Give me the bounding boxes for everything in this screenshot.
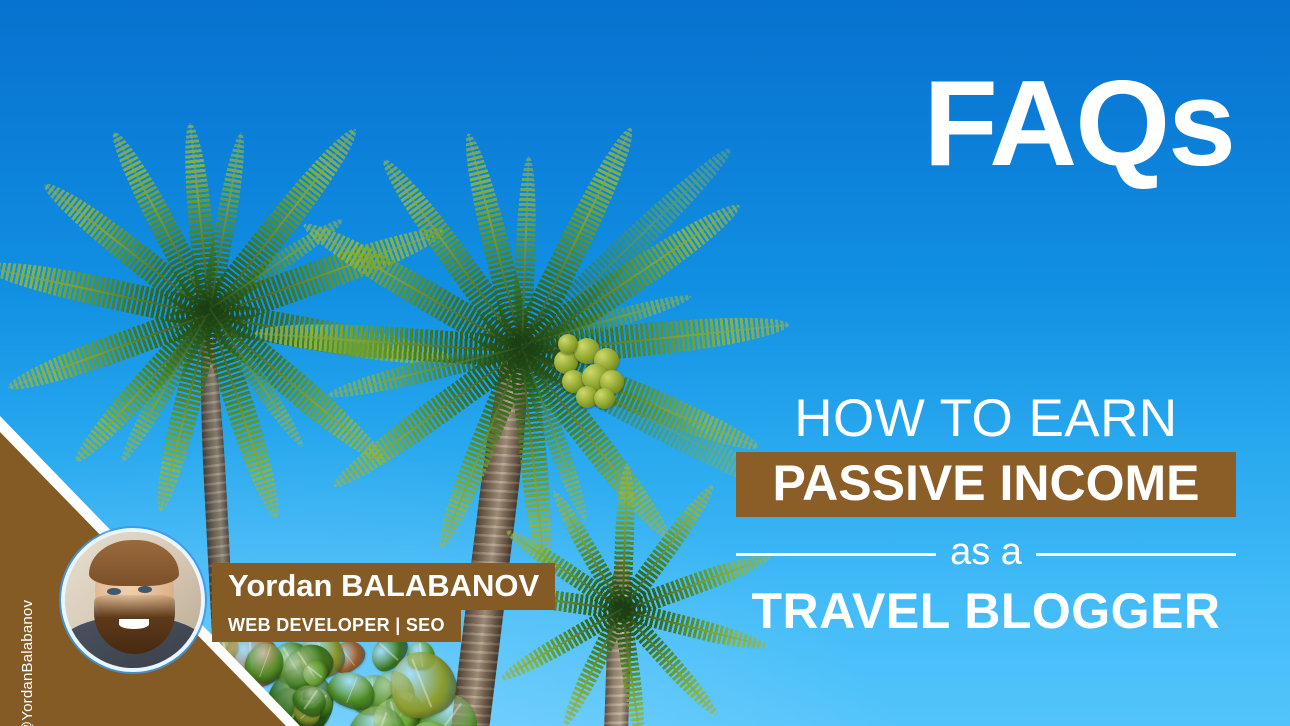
headline-connector-row: as a <box>736 533 1236 575</box>
linkedin-handle[interactable]: LinkedIn: @YordanBalabanov <box>19 600 36 726</box>
divider-left <box>736 553 936 556</box>
headline-line-2: TRAVEL BLOGGER <box>736 585 1236 638</box>
avatar <box>61 528 205 672</box>
avatar-eye-left <box>107 588 121 595</box>
author-badge: Yordan BALABANOV WEB DEVELOPER | SEO <box>212 563 555 642</box>
coconut <box>558 334 578 354</box>
faqs-label: FAQs <box>923 62 1234 184</box>
avatar-smile <box>119 619 149 629</box>
author-name: Yordan BALABANOV <box>212 563 555 610</box>
headline-block: HOW TO EARN PASSIVE INCOME as a TRAVEL B… <box>736 392 1236 638</box>
headline-line-1: HOW TO EARN <box>736 392 1236 446</box>
divider-right <box>1036 553 1236 556</box>
thumbnail-canvas: FAQs HOW TO EARN PASSIVE INCOME as a TRA… <box>0 0 1290 726</box>
headline-highlight: PASSIVE INCOME <box>736 452 1236 517</box>
author-role: WEB DEVELOPER | SEO <box>212 610 461 642</box>
coconut-cluster <box>548 334 626 400</box>
coconut <box>594 388 615 409</box>
headline-connector: as a <box>950 533 1022 575</box>
